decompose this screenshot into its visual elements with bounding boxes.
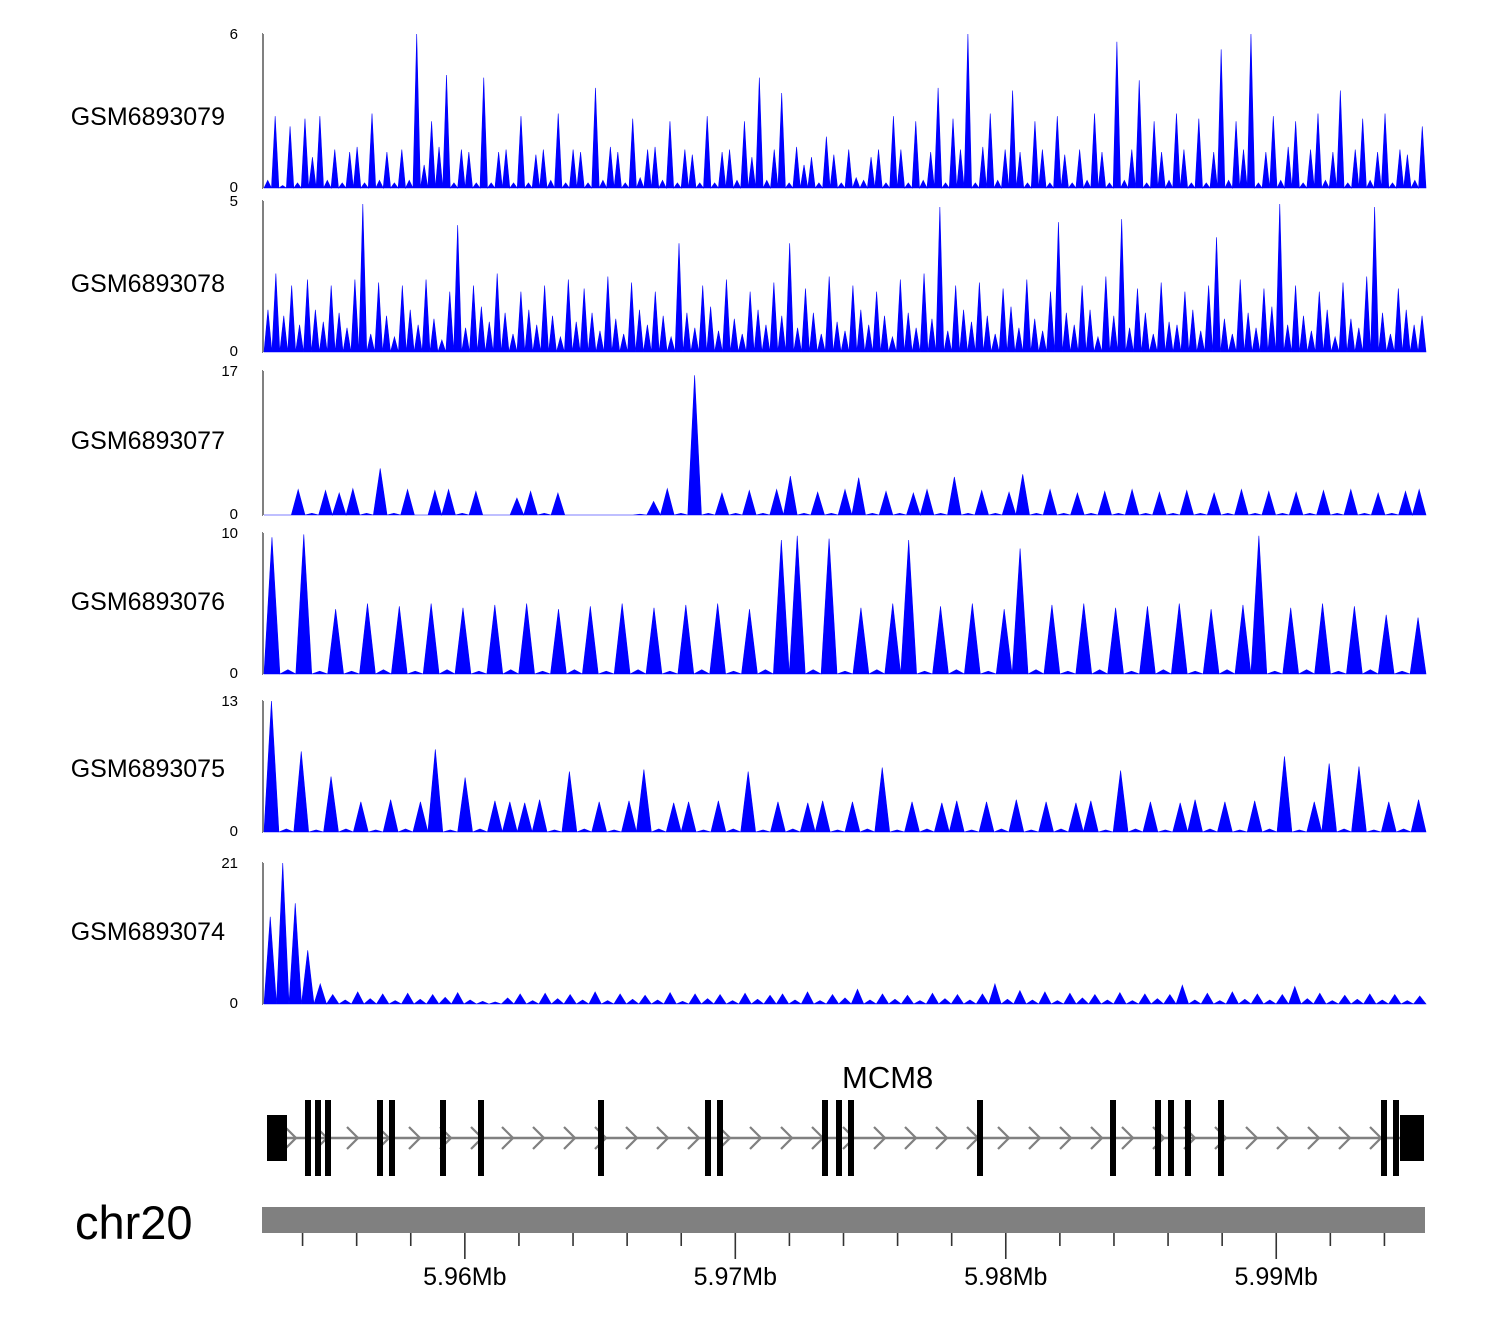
track-label: GSM6893076 <box>0 588 225 617</box>
exon-bar <box>315 1100 321 1176</box>
gene-model-track: MCM8 <box>0 1060 1500 1190</box>
track-label: GSM6893074 <box>0 918 225 947</box>
y-axis-max-label: 13 <box>198 694 238 709</box>
exon-bar <box>478 1100 484 1176</box>
signal-area <box>264 534 1426 674</box>
track-label: GSM6893078 <box>0 270 225 299</box>
exon-bar <box>389 1100 395 1176</box>
exon-bar <box>1393 1100 1399 1176</box>
signal-plot-area <box>262 200 1424 356</box>
track-label: GSM6893077 <box>0 427 225 456</box>
signal-track-gsm6893078: GSM689307850 <box>0 200 1500 364</box>
y-axis-max-label: 17 <box>198 364 238 379</box>
exon-bar <box>822 1100 828 1176</box>
y-axis-min-label: 0 <box>198 996 238 1011</box>
signal-plot-area <box>262 862 1424 1008</box>
y-axis-max-label: 5 <box>198 194 238 209</box>
signal-track-gsm6893074: GSM6893074210 <box>0 862 1500 1016</box>
exon-bar <box>836 1100 842 1176</box>
y-axis-max-label: 21 <box>198 856 238 871</box>
gene-model-plot <box>262 1090 1424 1185</box>
y-axis-max-label: 10 <box>198 526 238 541</box>
exon-bar <box>717 1100 723 1176</box>
signal-track-gsm6893079: GSM689307960 <box>0 33 1500 200</box>
exon-bar <box>598 1100 604 1176</box>
exon-bar <box>377 1100 383 1176</box>
signal-track-gsm6893075: GSM6893075130 <box>0 700 1500 844</box>
exon-bar <box>305 1100 311 1176</box>
chromosome-label: chr20 <box>75 1195 193 1250</box>
signal-track-gsm6893077: GSM6893077170 <box>0 370 1500 527</box>
exon-bar <box>977 1100 983 1176</box>
signal-plot-area <box>262 532 1424 678</box>
genome-axis-track: chr20 5.96Mb5.97Mb5.98Mb5.99Mb <box>0 1185 1500 1305</box>
signal-plot-area <box>262 700 1424 836</box>
track-label: GSM6893079 <box>0 103 225 132</box>
axis-tick-label: 5.96Mb <box>395 1263 535 1292</box>
exon-bar <box>1168 1100 1174 1176</box>
exon-bar <box>705 1100 711 1176</box>
axis-tick-label: 5.99Mb <box>1206 1263 1346 1292</box>
exon-bar <box>440 1100 446 1176</box>
track-label: GSM6893075 <box>0 755 225 784</box>
signal-area <box>264 375 1426 515</box>
exon-bar <box>325 1100 331 1176</box>
y-axis-min-label: 0 <box>198 344 238 359</box>
signal-area <box>264 34 1426 188</box>
signal-area <box>264 204 1426 352</box>
exon-bar <box>848 1100 854 1176</box>
signal-plot-area <box>262 33 1424 192</box>
y-axis-min-label: 0 <box>198 507 238 522</box>
exon-bar <box>1155 1100 1161 1176</box>
axis-tick-label: 5.98Mb <box>936 1263 1076 1292</box>
y-axis-min-label: 0 <box>198 824 238 839</box>
exon-bar <box>1381 1100 1387 1176</box>
utr-block-left <box>267 1115 287 1161</box>
exon-bar <box>1218 1100 1224 1176</box>
utr-block-right <box>1400 1115 1424 1161</box>
y-axis-max-label: 6 <box>198 27 238 42</box>
exon-bar <box>1185 1100 1191 1176</box>
genome-axis-bar <box>262 1207 1425 1233</box>
signal-area <box>264 863 1426 1004</box>
signal-track-gsm6893076: GSM6893076100 <box>0 532 1500 686</box>
exon-bar <box>1110 1100 1116 1176</box>
signal-plot-area <box>262 370 1424 519</box>
y-axis-min-label: 0 <box>198 666 238 681</box>
axis-tick-label: 5.97Mb <box>665 1263 805 1292</box>
genome-browser-figure: GSM689307960GSM689307850GSM6893077170GSM… <box>0 0 1500 1320</box>
signal-area <box>264 701 1426 832</box>
